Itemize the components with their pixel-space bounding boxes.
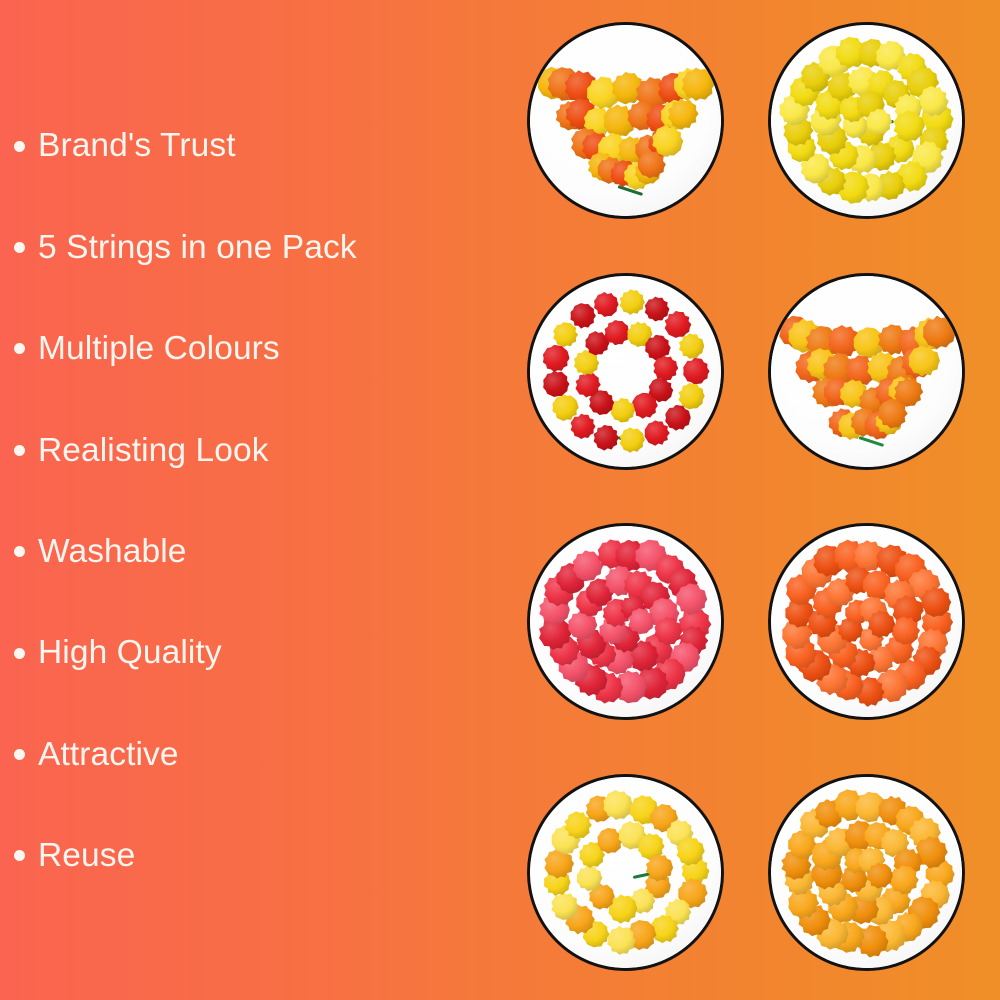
flower [594, 292, 619, 317]
bullet-point-icon [14, 850, 25, 861]
feature-label: Washable [38, 535, 187, 569]
garland-image [530, 777, 721, 968]
product-photo-orange-yellow-mixed-garland: Marigold garland with mixed orange and y… [527, 22, 724, 219]
garland-image [530, 526, 721, 717]
flower [644, 420, 670, 446]
product-photo-orange-yellow-garland: Dense orange and yellow marigold garland [768, 273, 965, 470]
flower [664, 311, 691, 338]
garland-image [771, 526, 962, 717]
feature-label: Realisting Look [38, 434, 269, 468]
feature-label: Brand's Trust [38, 129, 236, 163]
product-photo-yellow-orange-garland: Yellow and light orange marigold garland… [527, 774, 724, 971]
product-photo-red-pink-garland: Solid red-pink carnation style garland i… [527, 523, 724, 720]
feature-list: Brand's Trust 5 Strings in one Pack Mult… [0, 126, 500, 876]
bullet-point-icon [14, 648, 25, 659]
bullet-point-icon [14, 546, 25, 557]
garland-image [530, 276, 721, 467]
feature-item-attractive: Attractive [0, 735, 500, 775]
flower [665, 405, 691, 431]
bullet-point-icon [14, 749, 25, 760]
feature-item-brands-trust: Brand's Trust [0, 126, 500, 166]
product-photo-yellow-garland: Bright lemon yellow marigold garland coi… [768, 22, 965, 219]
bullet-point-icon [14, 242, 25, 253]
garland-image [771, 777, 962, 968]
flower [619, 427, 645, 453]
bullet-point-icon [14, 445, 25, 456]
feature-item-high-quality: High Quality [0, 633, 500, 673]
flower [678, 333, 704, 359]
feature-label: Attractive [38, 738, 179, 772]
feature-label: Multiple Colours [38, 332, 280, 366]
garland-image [771, 25, 962, 216]
flower [593, 425, 619, 451]
flower [553, 322, 578, 347]
flower [683, 358, 710, 385]
bullet-point-icon [14, 141, 25, 152]
product-photo-red-yellow-pompom-garland: Alternating red and yellow pom-pom flowe… [527, 273, 724, 470]
flower [678, 383, 705, 410]
feature-item-reuse: Reuse [0, 836, 500, 876]
garland-image [530, 25, 721, 216]
product-photo-grid: Marigold garland with mixed orange and y… [527, 22, 965, 968]
bullet-point-icon [14, 343, 25, 354]
garland-image [771, 276, 962, 467]
flower [644, 296, 669, 321]
product-feature-infographic: Brand's Trust 5 Strings in one Pack Mult… [0, 0, 1000, 1000]
flower [619, 289, 645, 315]
feature-item-5-strings-in-one-pack: 5 Strings in one Pack [0, 227, 500, 267]
feature-label: High Quality [38, 636, 222, 670]
product-photo-golden-amber-garland: Golden amber marigold garland coiled in … [768, 774, 965, 971]
flower [570, 414, 596, 440]
feature-item-multiple-colours: Multiple Colours [0, 329, 500, 369]
feature-label: 5 Strings in one Pack [38, 231, 357, 265]
flower [570, 303, 596, 329]
flower [610, 398, 635, 423]
flower [542, 345, 569, 372]
feature-item-realisting-look: Realisting Look [0, 430, 500, 470]
product-photo-orange-garland: Solid bright orange marigold garland spi… [768, 523, 965, 720]
flower [543, 370, 570, 397]
feature-item-washable: Washable [0, 532, 500, 572]
feature-label: Reuse [38, 839, 135, 873]
